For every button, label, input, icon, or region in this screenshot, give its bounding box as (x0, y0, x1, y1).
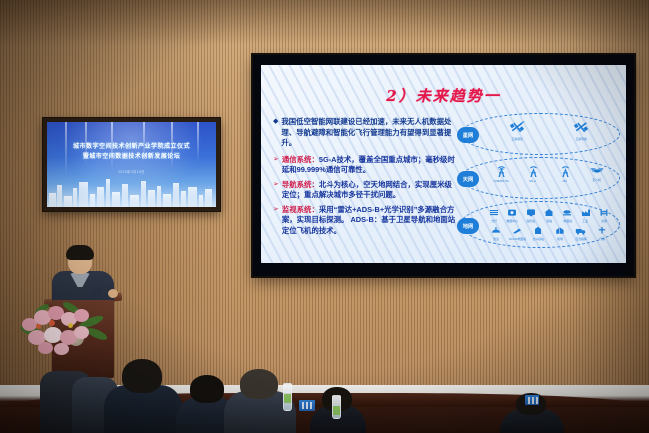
name-plate[interactable] (525, 395, 539, 405)
building-icon (544, 208, 554, 217)
bullet-label: 导航系统： (282, 180, 319, 189)
slide-title: 2）未来趋势一 (261, 85, 626, 106)
drone-icon (590, 165, 604, 176)
monitor-icon (526, 208, 536, 217)
icon-caption: 机场 (557, 236, 563, 241)
presenter-hand (108, 289, 118, 298)
satellite-icon (573, 121, 589, 135)
eyeglasses-icon (69, 257, 91, 263)
tower-icon-row: 700MHz 5G (485, 165, 613, 183)
arrow-bullet-icon: ➢ (273, 180, 279, 201)
fiber-icon-group: 光纤 (485, 208, 503, 223)
icon-caption: 卫星通信 (511, 136, 522, 141)
side-display-title: 城市数字空间技术创新产业学院成立仪式 暨城市空间数据技术创新发展论坛 (53, 142, 210, 162)
slide-bullet-item: ➢ 监视系统：采用“雷达+ADS-B+光学识别”多源融合方案，实现目标探测。 A… (273, 205, 458, 237)
attendee (104, 363, 182, 433)
layer-tag-satellite: 星网 (457, 127, 479, 143)
icon-caption: ADS-B地面站 (508, 236, 525, 241)
side-display-canvas: 城市数字空间技术创新产业学院成立仪式 暨城市空间数据技术创新发展论坛 2025年… (47, 122, 216, 207)
cell-tower-icon (559, 165, 572, 178)
attendee-head (240, 369, 278, 399)
weather-icon-group: 气象 (593, 226, 611, 241)
side-display: 城市数字空间技术创新产业学院成立仪式 暨城市空间数据技术创新发展论坛 2025年… (43, 118, 220, 211)
icon-caption: 北斗基站 (533, 236, 544, 241)
icon-caption: 光纤 (491, 218, 497, 223)
bullet-label: 通信系统： (282, 155, 319, 164)
data-center-icon-group: 数据中心 (503, 208, 521, 223)
arrow-bullet-icon: ➢ (273, 205, 279, 237)
icon-caption: 700MHz 5G (493, 179, 508, 183)
building-icon-group: 基站 (540, 208, 558, 223)
cell-tower-icon (495, 165, 508, 178)
satellite-icon-group: 卫星通信 (508, 121, 526, 141)
icon-caption: 监控站 (526, 218, 535, 223)
industry-icon (581, 208, 591, 217)
icon-caption: 数据中心 (507, 218, 518, 223)
airport-icon-group: 机场 (551, 226, 569, 241)
diagram-layer-ground: 地网 光纤 数据中心 (460, 201, 620, 248)
cell-tower-icon-group: 700MHz 5G (492, 165, 510, 183)
weather-icon (597, 226, 607, 235)
bullet-label: 监视系统： (282, 205, 319, 214)
icon-caption: 140 (563, 179, 568, 183)
airport-icon (555, 226, 565, 235)
icon-caption: 应急指挥 (575, 236, 586, 241)
side-title-line-1: 城市数字空间技术创新产业学院成立仪式 (53, 142, 210, 152)
arrow-bullet-icon: ➢ (273, 155, 279, 176)
icon-caption: 雷达 (493, 236, 499, 241)
side-title-line-2: 暨城市空间数据技术创新发展论坛 (53, 152, 210, 162)
radar-icon (491, 226, 501, 235)
icon-caption: 无人机 (593, 177, 602, 182)
beidou-station-icon (533, 226, 543, 235)
industry-icon-group: 工业 (577, 208, 595, 223)
transport-icon (599, 208, 609, 217)
beidou-station-icon-group: 北斗基站 (529, 226, 547, 241)
satellite-icon (509, 121, 525, 135)
cell-tower-icon-group: 5G-A (524, 165, 542, 183)
space-air-ground-network-diagram: 星网 (450, 113, 620, 248)
water-bottle[interactable] (332, 395, 341, 419)
slide-text-block: ◆ 我国低空智能网联建设已经加速，未来无人机数据处理、导航避障和智能化飞行管理能… (273, 117, 458, 240)
radar-icon-group: 雷达 (487, 226, 505, 241)
attendee-head (122, 359, 162, 393)
bottle-label (333, 406, 340, 415)
cell-tower-icon-group: 140 (556, 165, 574, 183)
layer-tag-ground: 地网 (457, 218, 479, 234)
drone-icon-group: 无人机 (588, 165, 606, 182)
icon-caption: 气象 (599, 236, 605, 241)
icon-caption: 交通 (601, 218, 607, 223)
satellite-icon-group: 卫星导航 (572, 121, 590, 141)
icon-caption: 地面站 (563, 218, 572, 223)
icon-caption: 基站 (546, 218, 552, 223)
layer-tag-air: 天网 (457, 171, 479, 187)
icon-caption: 卫星导航 (575, 136, 586, 141)
monitor-icon-group: 监控站 (522, 208, 540, 223)
diagram-layer-satellite: 星网 (460, 113, 620, 155)
slide-lead-text: 我国低空智能网联建设已经加速，未来无人机数据处理、导航避障和智能化飞行管理能力有… (281, 117, 458, 149)
icon-caption: 5G-A (530, 179, 537, 183)
diagram-layer-air: 天网 (460, 157, 620, 199)
command-vehicle-icon (575, 226, 586, 235)
ground-icon-row-top: 光纤 数据中心 监控站 (485, 208, 613, 223)
flower-arrangement (16, 300, 112, 362)
slide-lead-paragraph: ◆ 我国低空智能网联建设已经加速，未来无人机数据处理、导航避障和智能化飞行管理能… (273, 117, 458, 149)
diamond-bullet-icon: ◆ (273, 117, 278, 149)
screenshot-stage: 2）未来趋势一 ◆ 我国低空智能网联建设已经加速，未来无人机数据处理、导航避障和… (0, 0, 649, 433)
bottle-label (284, 394, 291, 403)
ground-station-icon-group: 地面站 (558, 208, 576, 223)
slide-bullet-item: ➢ 导航系统：北斗为核心，空天地网结合，实现厘米级定位；重点解决城市多径干扰问题… (273, 180, 458, 201)
ads-b-station-icon (512, 226, 522, 235)
icon-caption: 工业 (583, 218, 589, 223)
satellite-icon-row: 卫星通信 (485, 121, 613, 141)
city-skyline-graphic (47, 173, 216, 207)
cell-tower-icon (527, 165, 540, 178)
command-vehicle-icon-group: 应急指挥 (572, 226, 590, 241)
ground-icon-row-bottom: 雷达 ADS-B地面站 北斗基站 (485, 226, 613, 241)
data-center-icon (507, 208, 517, 217)
projection-screen: 2）未来趋势一 ◆ 我国低空智能网联建设已经加速，未来无人机数据处理、导航避障和… (253, 55, 634, 276)
transport-icon-group: 交通 (595, 208, 613, 223)
ground-station-icon (562, 208, 572, 217)
fiber-icon (489, 208, 499, 217)
attendee-head (190, 375, 224, 403)
slide-canvas: 2）未来趋势一 ◆ 我国低空智能网联建设已经加速，未来无人机数据处理、导航避障和… (261, 65, 626, 263)
slide-bullet-item: ➢ 通信系统：5G-A技术，覆盖全国重点城市；毫秒级时延和99.999%通信可靠… (273, 155, 458, 176)
name-plate[interactable] (299, 400, 315, 411)
ads-b-station-icon-group: ADS-B地面站 (508, 226, 526, 241)
water-bottle[interactable] (283, 383, 292, 411)
